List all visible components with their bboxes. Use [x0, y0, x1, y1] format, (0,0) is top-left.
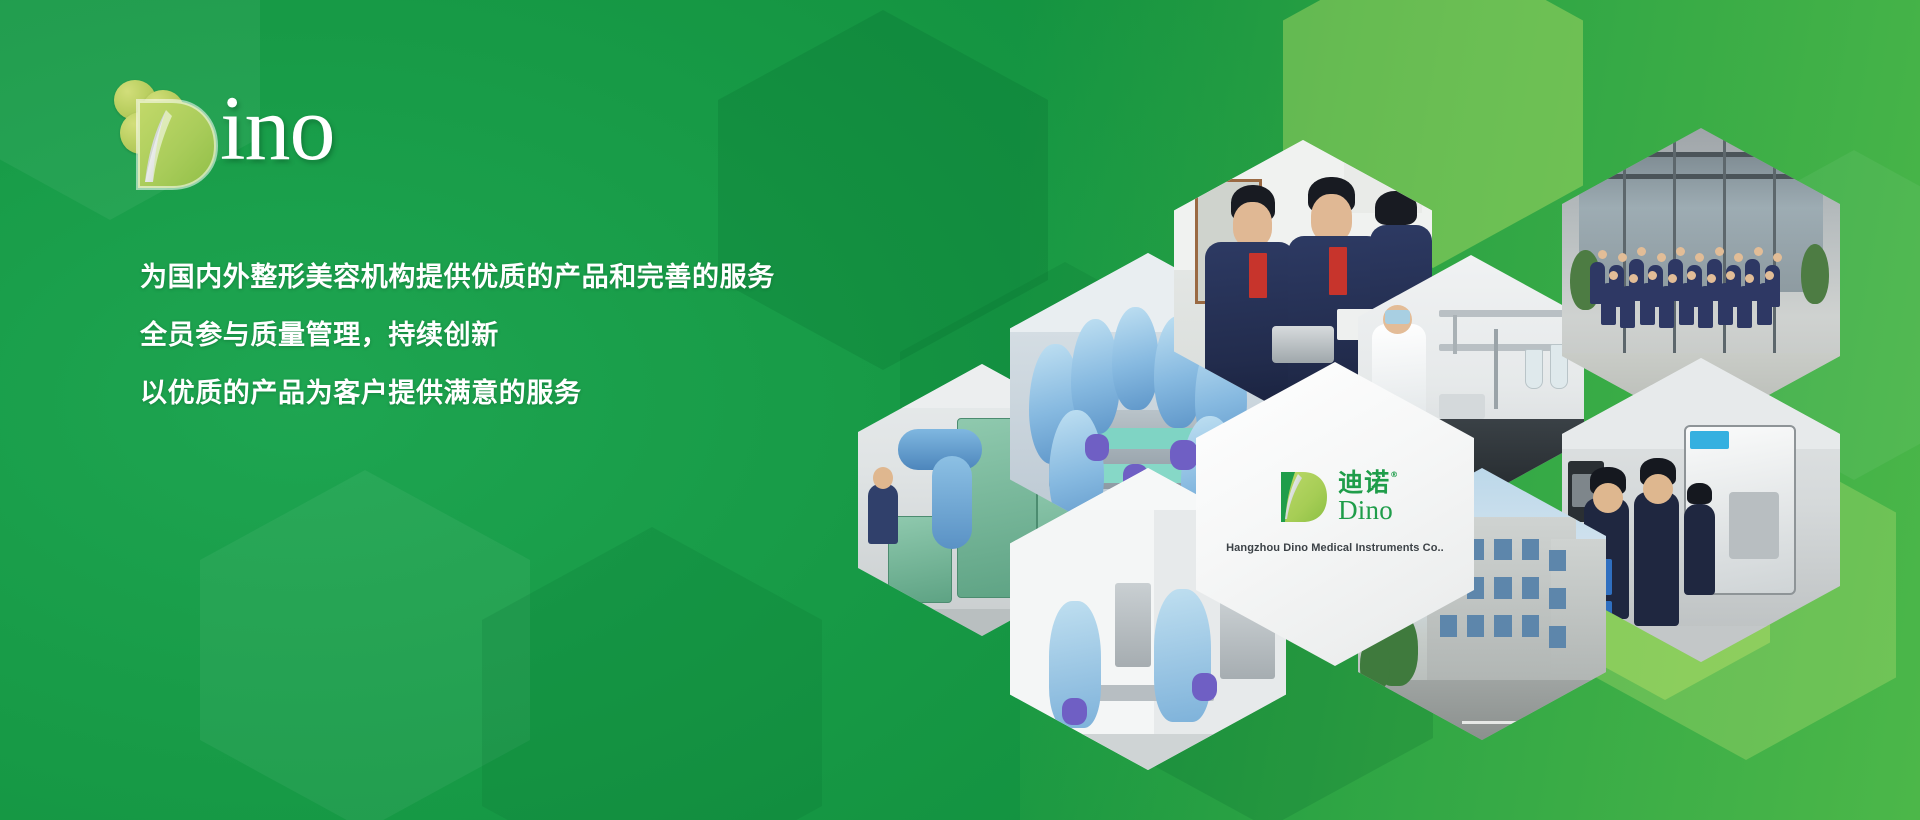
- photo-hexagon-cluster: 迪诺 ® Dino Hangzhou Dino Medical Instrume…: [0, 0, 1920, 820]
- company-full-name-caption: Hangzhou Dino Medical Instruments Co..: [1226, 542, 1444, 554]
- registered-mark-icon: ®: [1390, 471, 1399, 479]
- brand-name-cn: 迪诺: [1338, 468, 1390, 497]
- brand-name-en: Dino: [1338, 497, 1393, 524]
- dino-d-icon: [1277, 469, 1329, 525]
- company-profile-banner: ino 为国内外整形美容机构提供优质的产品和完善的服务 全员参与质量管理，持续创…: [0, 0, 1920, 820]
- center-hex-logo-row: 迪诺 ® Dino: [1277, 469, 1393, 525]
- center-hex-brand-text: 迪诺 ® Dino: [1338, 470, 1393, 524]
